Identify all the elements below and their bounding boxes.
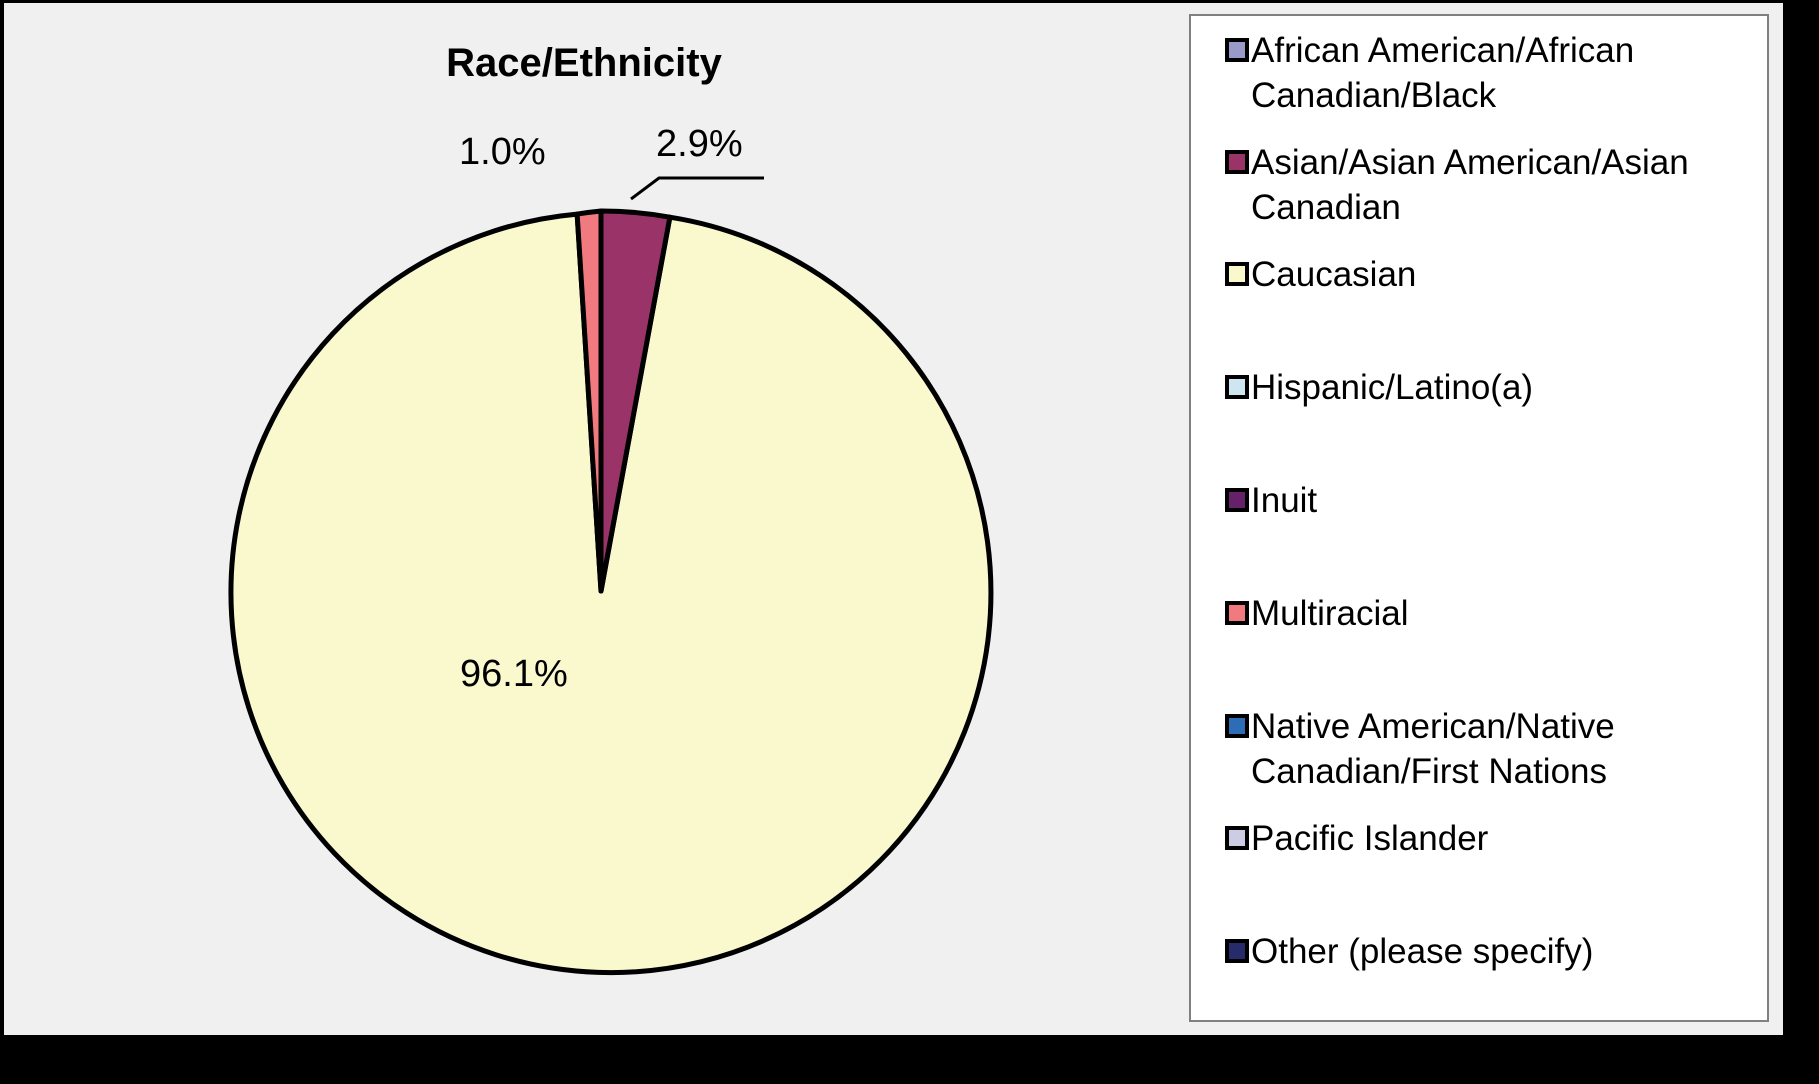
slice-label-caucasian: 96.1% (460, 653, 568, 696)
legend-item-hispanic[interactable]: Hispanic/Latino(a) (1225, 365, 1755, 410)
legend-swatch-icon (1225, 262, 1249, 286)
pie-chart-svg (4, 3, 1164, 1035)
legend-item-label: Hispanic/Latino(a) (1251, 365, 1533, 410)
legend-item-pacific-islander[interactable]: Pacific Islander (1225, 816, 1755, 861)
legend-item-native-american[interactable]: Native American/Native Canadian/First Na… (1225, 704, 1755, 794)
legend-swatch-icon (1225, 939, 1249, 963)
legend-item-label: Other (please specify) (1251, 929, 1593, 974)
legend-item-caucasian[interactable]: Caucasian (1225, 252, 1755, 297)
legend-item-african-american[interactable]: African American/African Canadian/Black (1225, 28, 1755, 118)
slice-label-asian: 2.9% (656, 123, 743, 166)
legend-swatch-icon (1225, 375, 1249, 399)
legend-item-inuit[interactable]: Inuit (1225, 478, 1755, 523)
legend-swatch-icon (1225, 150, 1249, 174)
legend-item-multiracial[interactable]: Multiracial (1225, 591, 1755, 636)
pie-chart-panel: Race/Ethnicity 1.0% 2.9% 96.1% (4, 3, 1164, 1035)
legend-swatch-icon (1225, 38, 1249, 62)
legend-swatch-icon (1225, 714, 1249, 738)
figure-outer-frame: Race/Ethnicity 1.0% 2.9% 96.1% Afri (0, 0, 1819, 1084)
leader-line-asian (631, 178, 764, 199)
legend-item-label: Asian/Asian American/Asian Canadian (1251, 140, 1689, 230)
figure-canvas: Race/Ethnicity 1.0% 2.9% 96.1% Afri (4, 3, 1783, 1035)
legend-item-label: Caucasian (1251, 252, 1416, 297)
legend-item-asian[interactable]: Asian/Asian American/Asian Canadian (1225, 140, 1755, 230)
legend-item-label: Native American/Native Canadian/First Na… (1251, 704, 1615, 794)
legend-swatch-icon (1225, 601, 1249, 625)
legend-list: African American/African Canadian/Black … (1225, 28, 1755, 974)
legend-panel: African American/African Canadian/Black … (1189, 14, 1769, 1022)
legend-item-label: African American/African Canadian/Black (1251, 28, 1634, 118)
legend-item-other[interactable]: Other (please specify) (1225, 929, 1755, 974)
slice-label-multiracial: 1.0% (459, 131, 546, 174)
legend-swatch-icon (1225, 826, 1249, 850)
legend-item-label: Inuit (1251, 478, 1317, 523)
legend-swatch-icon (1225, 488, 1249, 512)
legend-item-label: Pacific Islander (1251, 816, 1488, 861)
legend-item-label: Multiracial (1251, 591, 1409, 636)
